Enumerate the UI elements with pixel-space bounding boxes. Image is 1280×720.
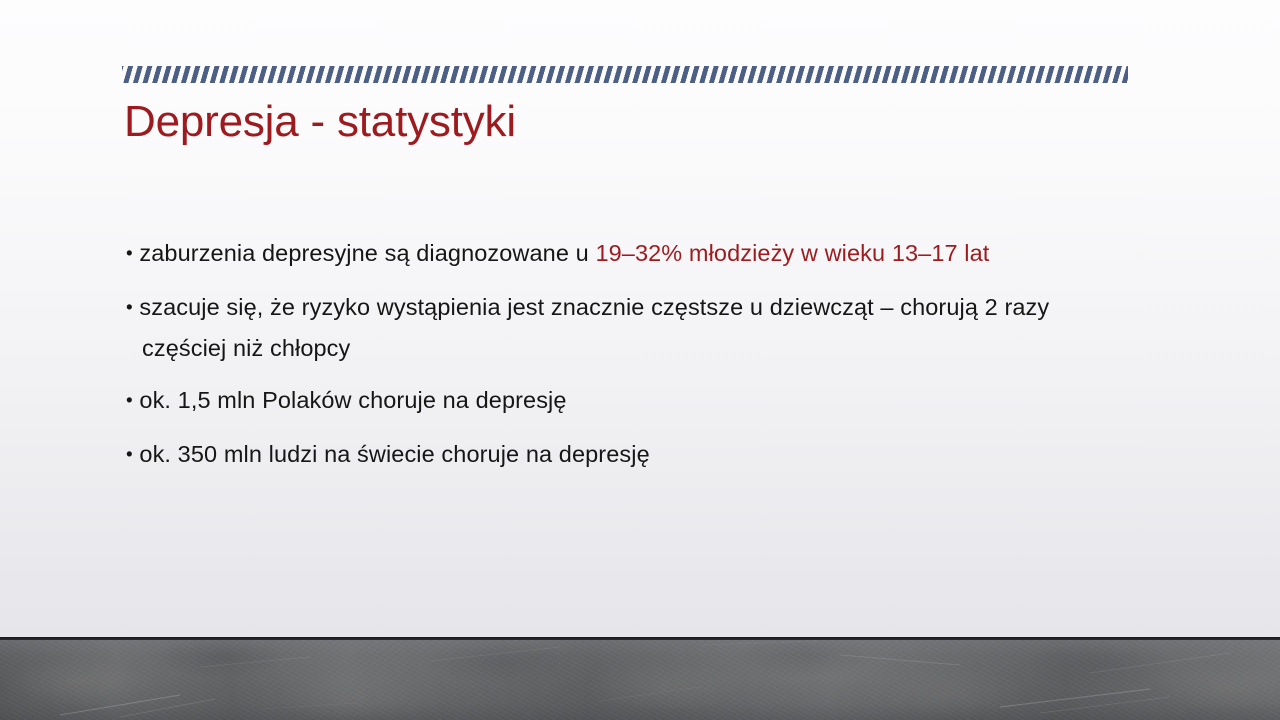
bullet-marker-icon: • — [126, 297, 133, 318]
slide-title: Depresja - statystyki — [124, 96, 516, 148]
bullet-marker-icon: • — [126, 444, 133, 465]
bullet-text: ok. 350 mln ludzi na świecie choruje na … — [139, 441, 649, 467]
bullet-marker-icon: • — [126, 244, 133, 265]
bullet-item: • ok. 350 mln ludzi na świecie choruje n… — [126, 434, 1128, 476]
bullet-item: • zaburzenia depresyjne są diagnozowane … — [126, 233, 1128, 275]
stone-texture-band — [0, 637, 1280, 720]
bullet-text: ok. 1,5 mln Polaków choruje na depresję — [139, 387, 566, 413]
decorative-stripe-band — [122, 66, 1128, 83]
bullet-list: • zaburzenia depresyjne są diagnozowane … — [126, 233, 1128, 475]
bullet-text-highlight: 19–32% młodzieży w wieku 13–17 lat — [595, 240, 989, 266]
bullet-text: szacuje się, że ryzyko wystąpienia jest … — [139, 294, 1049, 362]
stone-band-top-edge — [0, 637, 1280, 640]
bullet-marker-icon: • — [126, 391, 133, 412]
bullet-item: • szacuje się, że ryzyko wystąpienia jes… — [126, 287, 1128, 369]
stripe-pattern — [122, 66, 1128, 83]
presentation-slide: Depresja - statystyki • zaburzenia depre… — [0, 0, 1280, 720]
stone-scratch-layer — [0, 637, 1280, 720]
bullet-text: zaburzenia depresyjne są diagnozowane u — [139, 240, 595, 266]
bullet-item: • ok. 1,5 mln Polaków choruje na depresj… — [126, 380, 1128, 422]
